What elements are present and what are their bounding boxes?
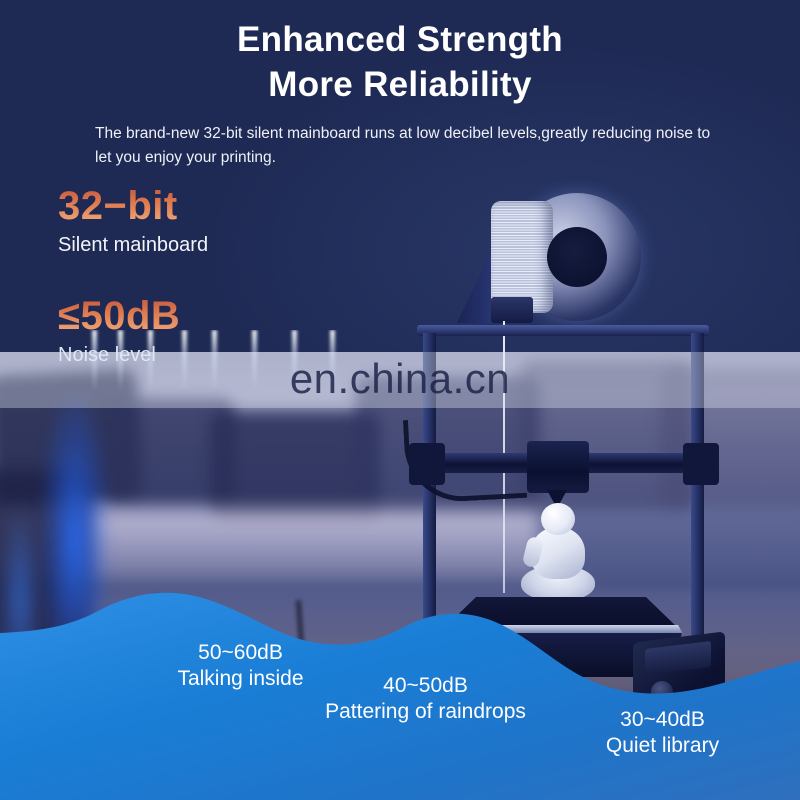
noise-label-library-range: 30~40dB bbox=[545, 707, 780, 733]
noise-label-raindrops: 40~50dB Pattering of raindrops bbox=[283, 673, 568, 726]
spool-hub-center bbox=[547, 227, 607, 287]
noise-label-raindrops-source: Pattering of raindrops bbox=[283, 699, 568, 725]
extruder-motor bbox=[491, 297, 533, 323]
headline-line-1: Enhanced Strength bbox=[237, 20, 563, 59]
gantry-end-right bbox=[683, 443, 719, 485]
noise-label-talking-range: 50~60dB bbox=[128, 640, 353, 666]
headline: Enhanced Strength More Reliability bbox=[0, 18, 800, 108]
watermark-text: en.china.cn bbox=[0, 355, 800, 403]
banner-stage: Enhanced Strength More Reliability The b… bbox=[0, 0, 800, 800]
printer-top-bar bbox=[417, 325, 709, 336]
printed-model-head bbox=[541, 503, 575, 535]
hotend-carriage bbox=[527, 441, 589, 493]
spec-noise-value: ≤50dB bbox=[58, 296, 180, 336]
noise-label-library: 30~40dB Quiet library bbox=[545, 707, 780, 760]
nozzle bbox=[547, 490, 567, 504]
spec-mainboard-value: 32−bit bbox=[58, 186, 208, 226]
spec-mainboard-caption: Silent mainboard bbox=[58, 235, 208, 255]
headline-line-2: More Reliability bbox=[0, 63, 800, 108]
gantry-end-left bbox=[409, 443, 445, 485]
spec-mainboard: 32−bit Silent mainboard bbox=[58, 186, 208, 255]
sub-copy: The brand-new 32-bit silent mainboard ru… bbox=[95, 122, 715, 170]
noise-label-raindrops-range: 40~50dB bbox=[283, 673, 568, 699]
noise-label-library-source: Quiet library bbox=[545, 733, 780, 759]
